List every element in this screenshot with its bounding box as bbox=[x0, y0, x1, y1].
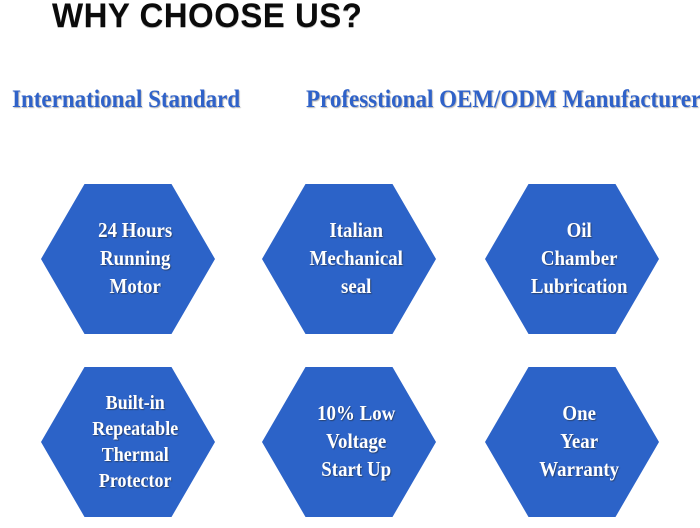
hexagon-shape bbox=[262, 184, 436, 334]
feature-hexagon-grid: 24 HoursRunningMotor ItalianMechanicalse… bbox=[0, 0, 700, 528]
hexagon-shape bbox=[485, 184, 659, 334]
feature-hexagon-built-in-repeatable-thermal-protector: Built-inRepeatableThermalProtector bbox=[41, 367, 215, 517]
hexagon-shape bbox=[485, 367, 659, 517]
feature-hexagon-italian-mechanical-seal: ItalianMechanicalseal bbox=[262, 184, 436, 334]
feature-hexagon-oil-chamber-lubrication: OilChamberLubrication bbox=[485, 184, 659, 334]
hexagon-shape bbox=[41, 367, 215, 517]
hexagon-shape bbox=[41, 184, 215, 334]
feature-hexagon-10-percent-low-voltage-start-up: 10% LowVoltageStart Up bbox=[262, 367, 436, 517]
feature-hexagon-24-hours-running-motor: 24 HoursRunningMotor bbox=[41, 184, 215, 334]
why-choose-us-banner: WHY CHOOSE US? International Standard Pr… bbox=[0, 0, 700, 528]
feature-hexagon-one-year-warranty: OneYearWarranty bbox=[485, 367, 659, 517]
hexagon-shape bbox=[262, 367, 436, 517]
